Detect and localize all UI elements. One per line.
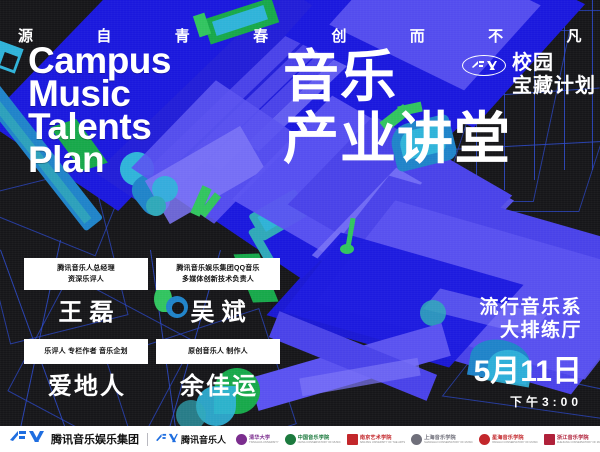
tagline-char-7: 凡 <box>567 25 583 46</box>
tagline-char-4: 创 <box>331 25 347 46</box>
speaker-card-2: 乐评人 专栏作者 音乐企划 爱地人 <box>24 339 148 413</box>
headline-english: Campus Music Talents Plan <box>28 44 171 176</box>
tagline-char-2: 青 <box>175 25 191 46</box>
tencent-musician-name: 腾讯音乐人 <box>181 433 226 446</box>
tme-name: 腾讯音乐娱乐集团 <box>51 431 139 447</box>
university-logo-0: 清华大学 TSINGHUA UNIVERSITY <box>236 434 279 445</box>
program-badge: 校园 宝藏计划 CAMPUS MUSIC TALENTS PLAN <box>462 52 600 98</box>
badge-chinese: 校园 宝藏计划 <box>512 52 596 98</box>
tagline-char-3: 春 <box>253 25 269 46</box>
university-logo-3: 上海音乐学院 SHANGHAI CONSERVATORY OF MUSIC <box>411 434 473 445</box>
university-subname: TSINGHUA UNIVERSITY <box>249 441 279 444</box>
headline-line-4: Plan <box>28 143 171 176</box>
speaker-title-2: 乐评人 专栏作者 音乐企划 <box>24 339 148 364</box>
university-logo-1: 中国音乐学院 CHINA CONSERVATORY OF MUSIC <box>285 434 341 445</box>
speaker-name-2: 爱地人 <box>24 373 148 401</box>
speaker-title-line-1: 腾讯音乐娱乐集团QQ音乐 <box>160 263 276 274</box>
tagline-char-6: 不 <box>488 25 504 46</box>
university-subname: SHANGHAI CONSERVATORY OF MUSIC <box>424 441 473 444</box>
badge-cn-line-1: 校园 <box>512 52 596 75</box>
tencent-musician-logo-group: 腾讯音乐人 <box>156 430 226 448</box>
university-subname: ZHEJIANG CONSERVATORY OF MUSIC <box>557 441 600 444</box>
speaker-title-line-2: 多媒体创新技术负责人 <box>160 274 276 285</box>
event-venue: 流行音乐系 大排练厅 <box>474 296 582 342</box>
speaker-title-line-2: 资深乐评人 <box>28 274 144 285</box>
tme-logo-icon <box>10 430 44 448</box>
event-details: 流行音乐系 大排练厅 5月11日 下午3:00 <box>474 296 582 410</box>
speaker-title-1: 腾讯音乐娱乐集团QQ音乐 多媒体创新技术负责人 <box>156 258 280 290</box>
speaker-row-2: 乐评人 专栏作者 音乐企划 爱地人 原创音乐人 制作人 余佳运 <box>24 339 280 413</box>
speaker-title-line-1: 腾讯音乐人总经理 <box>28 263 144 274</box>
speaker-card-1: 腾讯音乐娱乐集团QQ音乐 多媒体创新技术负责人 吴斌 <box>156 258 280 339</box>
speaker-row-1: 腾讯音乐人总经理 资深乐评人 王磊 腾讯音乐娱乐集团QQ音乐 多媒体创新技术负责… <box>24 258 280 339</box>
university-seal-icon <box>411 434 422 445</box>
speaker-title-0: 腾讯音乐人总经理 资深乐评人 <box>24 258 148 290</box>
badge-cn-line-2: 宝藏计划 <box>512 75 596 98</box>
university-subname: CHINA CONSERVATORY OF MUSIC <box>298 441 341 444</box>
university-subname: NANJING UNIVERSITY OF THE ARTS <box>360 441 405 444</box>
university-logo-2: 南京艺术学院 NANJING UNIVERSITY OF THE ARTS <box>347 434 405 445</box>
tme-logo-group: 腾讯音乐娱乐集团 <box>6 430 139 448</box>
speaker-name-0: 王磊 <box>24 299 148 327</box>
event-venue-line-1: 流行音乐系 <box>474 296 582 319</box>
event-time: 下午3:00 <box>474 393 582 410</box>
university-subname: XINGHAI CONSERVATORY OF MUSIC <box>492 441 538 444</box>
speaker-card-3: 原创音乐人 制作人 余佳运 <box>156 339 280 413</box>
tagline-char-5: 而 <box>410 25 426 46</box>
event-venue-line-2: 大排练厅 <box>474 319 582 342</box>
university-logos: 清华大学 TSINGHUA UNIVERSITY 中国音乐学院 CHINA CO… <box>236 434 600 445</box>
speaker-name-1: 吴斌 <box>156 299 280 327</box>
university-seal-icon <box>347 434 358 445</box>
poster-canvas: 源 自 青 春 创 而 不 凡 Campus Music Talents Pla… <box>0 0 600 452</box>
university-logo-5: 浙江音乐学院 ZHEJIANG CONSERVATORY OF MUSIC <box>544 434 600 445</box>
speaker-title-3: 原创音乐人 制作人 <box>156 339 280 364</box>
sponsor-footer: 腾讯音乐娱乐集团 腾讯音乐人 清华大学 TSINGHUA UNIVE <box>0 426 600 452</box>
speaker-name-3: 余佳运 <box>156 373 280 401</box>
university-seal-icon <box>285 434 296 445</box>
university-seal-icon <box>236 434 247 445</box>
university-logo-4: 星海音乐学院 XINGHAI CONSERVATORY OF MUSIC <box>479 434 538 445</box>
university-seal-icon <box>479 434 490 445</box>
tencent-musician-logo-icon <box>156 430 178 448</box>
headline-cn-line-2: 产业讲堂 <box>283 108 511 170</box>
tencent-musician-mark-icon <box>462 55 506 76</box>
speaker-grid: 腾讯音乐人总经理 资深乐评人 王磊 腾讯音乐娱乐集团QQ音乐 多媒体创新技术负责… <box>24 258 280 413</box>
event-date: 5月11日 <box>474 356 582 388</box>
footer-divider <box>147 433 148 446</box>
speaker-card-0: 腾讯音乐人总经理 资深乐评人 王磊 <box>24 258 148 339</box>
university-seal-icon <box>544 434 555 445</box>
